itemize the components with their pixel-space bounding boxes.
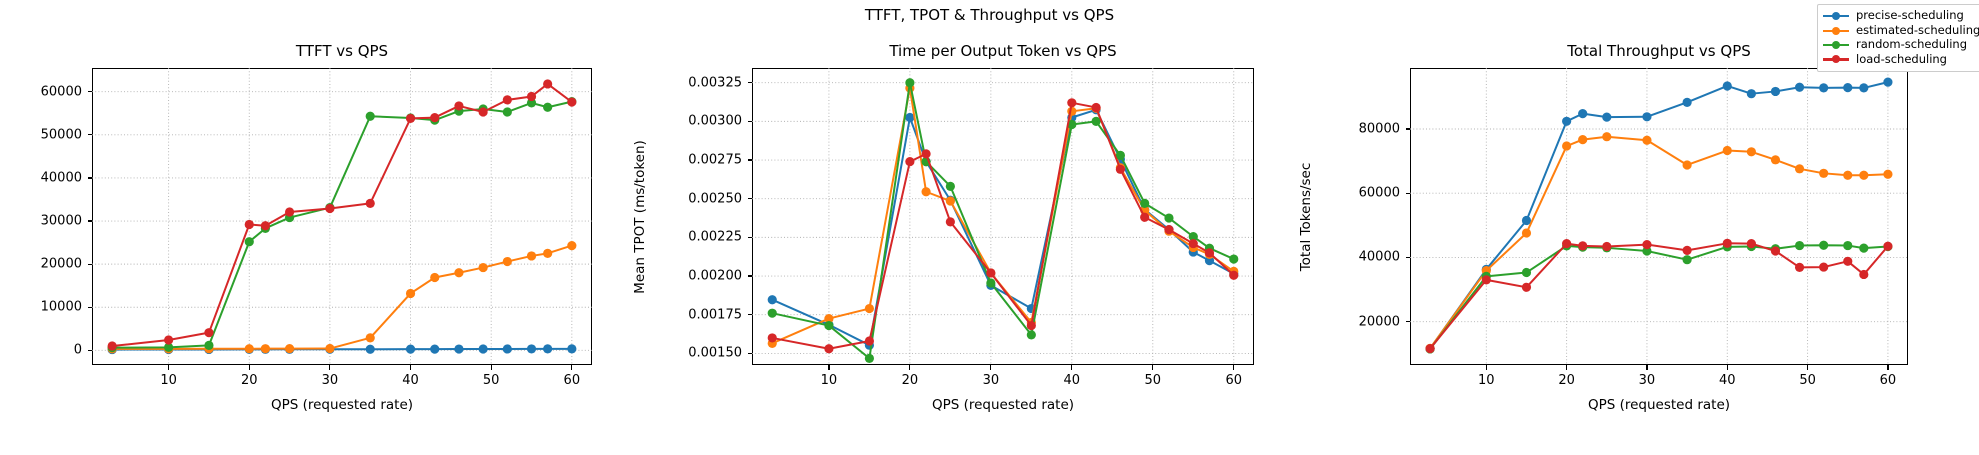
y-axis-label: Mean TPOT (ms/token): [632, 140, 648, 294]
data-point: [1883, 242, 1892, 251]
data-point: [1683, 98, 1692, 107]
data-point: [1562, 117, 1571, 126]
x-tick-mark: [1887, 365, 1888, 370]
data-point: [905, 78, 914, 87]
data-point: [1883, 78, 1892, 87]
data-point: [1843, 241, 1852, 250]
data-point: [1723, 239, 1732, 248]
y-tick-mark: [88, 220, 93, 221]
data-point: [261, 221, 270, 230]
data-point: [1771, 87, 1780, 96]
subplot-title: TTFT vs QPS: [92, 42, 592, 60]
data-point: [479, 107, 488, 116]
x-tick-mark: [1646, 365, 1647, 370]
data-point: [1859, 244, 1868, 253]
data-point: [366, 112, 375, 121]
data-point: [1819, 169, 1828, 178]
y-tick-label: 0.00250: [656, 191, 742, 206]
data-point: [543, 103, 552, 112]
x-tick-mark: [1071, 365, 1072, 370]
y-tick-mark: [1406, 321, 1411, 322]
data-point: [946, 196, 955, 205]
data-point: [1683, 246, 1692, 255]
data-point: [245, 344, 254, 353]
y-tick-mark: [1406, 128, 1411, 129]
y-tick-label: 0.00200: [656, 269, 742, 284]
series-load-scheduling: [108, 79, 577, 350]
x-tick-mark: [571, 365, 572, 370]
data-point: [1562, 141, 1571, 150]
y-tick-mark: [88, 91, 93, 92]
plot-canvas: [92, 68, 592, 365]
data-point: [1859, 171, 1868, 180]
y-tick-mark: [748, 198, 753, 199]
x-tick-label: 40: [402, 373, 419, 388]
data-point: [108, 341, 117, 350]
data-point: [503, 107, 512, 116]
series-random-scheduling: [108, 97, 577, 352]
data-point: [1229, 271, 1238, 280]
data-point: [1795, 164, 1804, 173]
y-tick-mark: [88, 134, 93, 135]
x-axis-label: QPS (requested rate): [1410, 397, 1908, 413]
data-point: [1164, 225, 1173, 234]
legend-label: random-scheduling: [1856, 39, 1967, 51]
legend-item-estimated-scheduling[interactable]: estimated-scheduling: [1823, 23, 1979, 37]
data-point: [204, 341, 213, 350]
x-tick-mark: [410, 365, 411, 370]
data-point: [1883, 170, 1892, 179]
x-tick-label: 30: [322, 373, 339, 388]
data-point: [1602, 132, 1611, 141]
series-load-scheduling: [1425, 239, 1892, 354]
series-random-scheduling: [768, 78, 1239, 363]
data-point: [285, 344, 294, 353]
x-tick-label: 10: [821, 373, 838, 388]
data-point: [1843, 83, 1852, 92]
data-point: [1522, 268, 1531, 277]
data-point: [1578, 135, 1587, 144]
data-point: [1164, 213, 1173, 222]
data-point: [1795, 83, 1804, 92]
data-point: [567, 97, 576, 106]
data-point: [406, 289, 415, 298]
y-tick-label: 30000: [0, 214, 82, 229]
y-tick-label: 40000: [0, 170, 82, 185]
legend-label: precise-scheduling: [1856, 10, 1964, 22]
data-point: [543, 344, 552, 353]
x-tick-label: 50: [483, 373, 500, 388]
y-tick-mark: [88, 307, 93, 308]
x-tick-mark: [1727, 365, 1728, 370]
subplot-title: Time per Output Token vs QPS: [752, 42, 1254, 60]
y-tick-label: 40000: [1314, 250, 1400, 265]
data-point: [1747, 147, 1756, 156]
y-tick-label: 60000: [0, 84, 82, 99]
x-tick-label: 40: [1719, 373, 1736, 388]
data-point: [479, 344, 488, 353]
data-point: [503, 344, 512, 353]
data-point: [1027, 321, 1036, 330]
data-point: [285, 207, 294, 216]
x-tick-mark: [909, 365, 910, 370]
data-point: [245, 237, 254, 246]
x-tick-label: 50: [1799, 373, 1816, 388]
data-point: [479, 263, 488, 272]
data-point: [824, 344, 833, 353]
y-tick-label: 20000: [0, 257, 82, 272]
data-point: [1747, 239, 1756, 248]
data-point: [1578, 109, 1587, 118]
x-tick-mark: [1566, 365, 1567, 370]
x-tick-mark: [168, 365, 169, 370]
y-tick-label: 20000: [1314, 314, 1400, 329]
data-point: [986, 278, 995, 287]
data-point: [454, 344, 463, 353]
data-point: [921, 149, 930, 158]
data-point: [1229, 254, 1238, 263]
x-tick-mark: [491, 365, 492, 370]
data-point: [1747, 89, 1756, 98]
data-point: [1642, 240, 1651, 249]
y-tick-mark: [88, 350, 93, 351]
data-point: [824, 321, 833, 330]
x-tick-mark: [1233, 365, 1234, 370]
y-axis-label: Total Tokens/sec: [1298, 162, 1314, 271]
data-point: [1140, 199, 1149, 208]
plot-canvas: [752, 68, 1254, 365]
figure-root: TTFT, TPOT & Throughput vs QPS TTFT vs Q…: [0, 0, 1979, 455]
x-tick-label: 60: [1225, 373, 1242, 388]
data-point: [1562, 239, 1571, 248]
data-point: [503, 257, 512, 266]
data-point: [1723, 81, 1732, 90]
data-point: [1859, 270, 1868, 279]
data-point: [430, 344, 439, 353]
data-point: [1116, 165, 1125, 174]
data-point: [946, 182, 955, 191]
data-point: [454, 101, 463, 110]
y-tick-mark: [748, 314, 753, 315]
y-tick-label: 0.00325: [656, 75, 742, 90]
data-point: [1425, 344, 1434, 353]
grid-lines: [92, 68, 592, 365]
series-precise-scheduling: [1425, 78, 1892, 354]
data-point: [768, 295, 777, 304]
data-point: [1027, 330, 1036, 339]
x-tick-mark: [1807, 365, 1808, 370]
data-point: [1723, 146, 1732, 155]
data-point: [905, 157, 914, 166]
figure-title: TTFT, TPOT & Throughput vs QPS: [0, 6, 1979, 24]
legend: precise-schedulingestimated-schedulingra…: [1817, 4, 1979, 72]
y-tick-label: 0: [0, 343, 82, 358]
x-tick-label: 20: [902, 373, 919, 388]
x-tick-label: 30: [1639, 373, 1656, 388]
y-tick-label: 10000: [0, 300, 82, 315]
data-point: [1578, 241, 1587, 250]
x-tick-label: 10: [1478, 373, 1495, 388]
y-tick-mark: [748, 121, 753, 122]
x-tick-label: 20: [241, 373, 258, 388]
x-tick-mark: [329, 365, 330, 370]
legend-item-precise-scheduling[interactable]: precise-scheduling: [1823, 9, 1979, 23]
y-tick-mark: [748, 237, 753, 238]
x-axis-label: QPS (requested rate): [752, 397, 1254, 413]
x-tick-label: 60: [564, 373, 581, 388]
data-point: [1683, 255, 1692, 264]
y-tick-label: 80000: [1314, 122, 1400, 137]
x-axis-label: QPS (requested rate): [92, 397, 592, 413]
data-point: [503, 95, 512, 104]
legend-label: estimated-scheduling: [1856, 25, 1979, 37]
data-point: [1602, 242, 1611, 251]
legend-marker-icon: [1823, 52, 1849, 66]
data-point: [1140, 213, 1149, 222]
y-tick-label: 50000: [0, 127, 82, 142]
x-tick-mark: [1152, 365, 1153, 370]
data-point: [768, 309, 777, 318]
data-point: [164, 335, 173, 344]
x-tick-label: 20: [1558, 373, 1575, 388]
data-point: [1819, 262, 1828, 271]
x-tick-label: 30: [983, 373, 1000, 388]
data-point: [366, 345, 375, 354]
x-tick-label: 10: [160, 373, 177, 388]
data-point: [1683, 160, 1692, 169]
data-point: [204, 328, 213, 337]
x-tick-mark: [828, 365, 829, 370]
data-point: [527, 344, 536, 353]
data-point: [454, 268, 463, 277]
data-point: [1642, 112, 1651, 121]
legend-marker-icon: [1823, 24, 1849, 38]
data-point: [768, 333, 777, 342]
data-point: [325, 204, 334, 213]
legend-marker-icon: [1823, 9, 1849, 23]
data-point: [567, 241, 576, 250]
data-point: [1795, 241, 1804, 250]
data-point: [1522, 228, 1531, 237]
y-tick-label: 0.00275: [656, 153, 742, 168]
data-point: [921, 187, 930, 196]
y-tick-label: 0.00300: [656, 114, 742, 129]
y-tick-mark: [748, 82, 753, 83]
data-point: [366, 333, 375, 342]
data-point: [1843, 171, 1852, 180]
y-tick-mark: [748, 159, 753, 160]
data-point: [1092, 103, 1101, 112]
data-point: [430, 273, 439, 282]
data-point: [1843, 257, 1852, 266]
data-point: [1795, 263, 1804, 272]
y-tick-label: 0.00150: [656, 346, 742, 361]
plot-canvas: [1410, 68, 1908, 365]
data-point: [1602, 113, 1611, 122]
data-point: [1482, 275, 1491, 284]
data-point: [865, 336, 874, 345]
data-point: [1522, 283, 1531, 292]
y-tick-label: 0.00175: [656, 307, 742, 322]
x-tick-label: 40: [1064, 373, 1081, 388]
data-point: [527, 92, 536, 101]
x-tick-label: 60: [1880, 373, 1897, 388]
series-load-scheduling: [768, 98, 1239, 353]
legend-marker-icon: [1823, 38, 1849, 52]
data-point: [406, 114, 415, 123]
x-tick-mark: [990, 365, 991, 370]
data-point: [543, 79, 552, 88]
y-tick-mark: [1406, 193, 1411, 194]
legend-label: load-scheduling: [1856, 54, 1947, 66]
data-point: [865, 304, 874, 313]
legend-item-random-scheduling[interactable]: random-scheduling: [1823, 38, 1979, 52]
data-point: [567, 344, 576, 353]
data-point: [1771, 246, 1780, 255]
x-tick-mark: [249, 365, 250, 370]
y-tick-mark: [88, 264, 93, 265]
data-point: [1642, 136, 1651, 145]
y-tick-mark: [748, 353, 753, 354]
data-point: [986, 268, 995, 277]
data-point: [366, 199, 375, 208]
data-point: [865, 354, 874, 363]
data-point: [1067, 98, 1076, 107]
y-tick-mark: [88, 177, 93, 178]
data-point: [406, 345, 415, 354]
series-estimated-scheduling: [108, 241, 577, 354]
y-tick-mark: [1406, 257, 1411, 258]
y-tick-label: 60000: [1314, 186, 1400, 201]
y-tick-mark: [748, 275, 753, 276]
data-point: [1819, 83, 1828, 92]
y-tick-label: 0.00225: [656, 230, 742, 245]
x-tick-label: 50: [1145, 373, 1162, 388]
data-point: [1859, 83, 1868, 92]
data-point: [1189, 239, 1198, 248]
data-point: [325, 344, 334, 353]
data-point: [1771, 155, 1780, 164]
data-point: [946, 217, 955, 226]
data-point: [527, 251, 536, 260]
data-point: [245, 220, 254, 229]
data-point: [261, 344, 270, 353]
data-point: [1205, 248, 1214, 257]
data-point: [543, 249, 552, 258]
data-point: [430, 113, 439, 122]
legend-item-load-scheduling[interactable]: load-scheduling: [1823, 52, 1979, 66]
data-point: [1819, 241, 1828, 250]
x-tick-mark: [1486, 365, 1487, 370]
